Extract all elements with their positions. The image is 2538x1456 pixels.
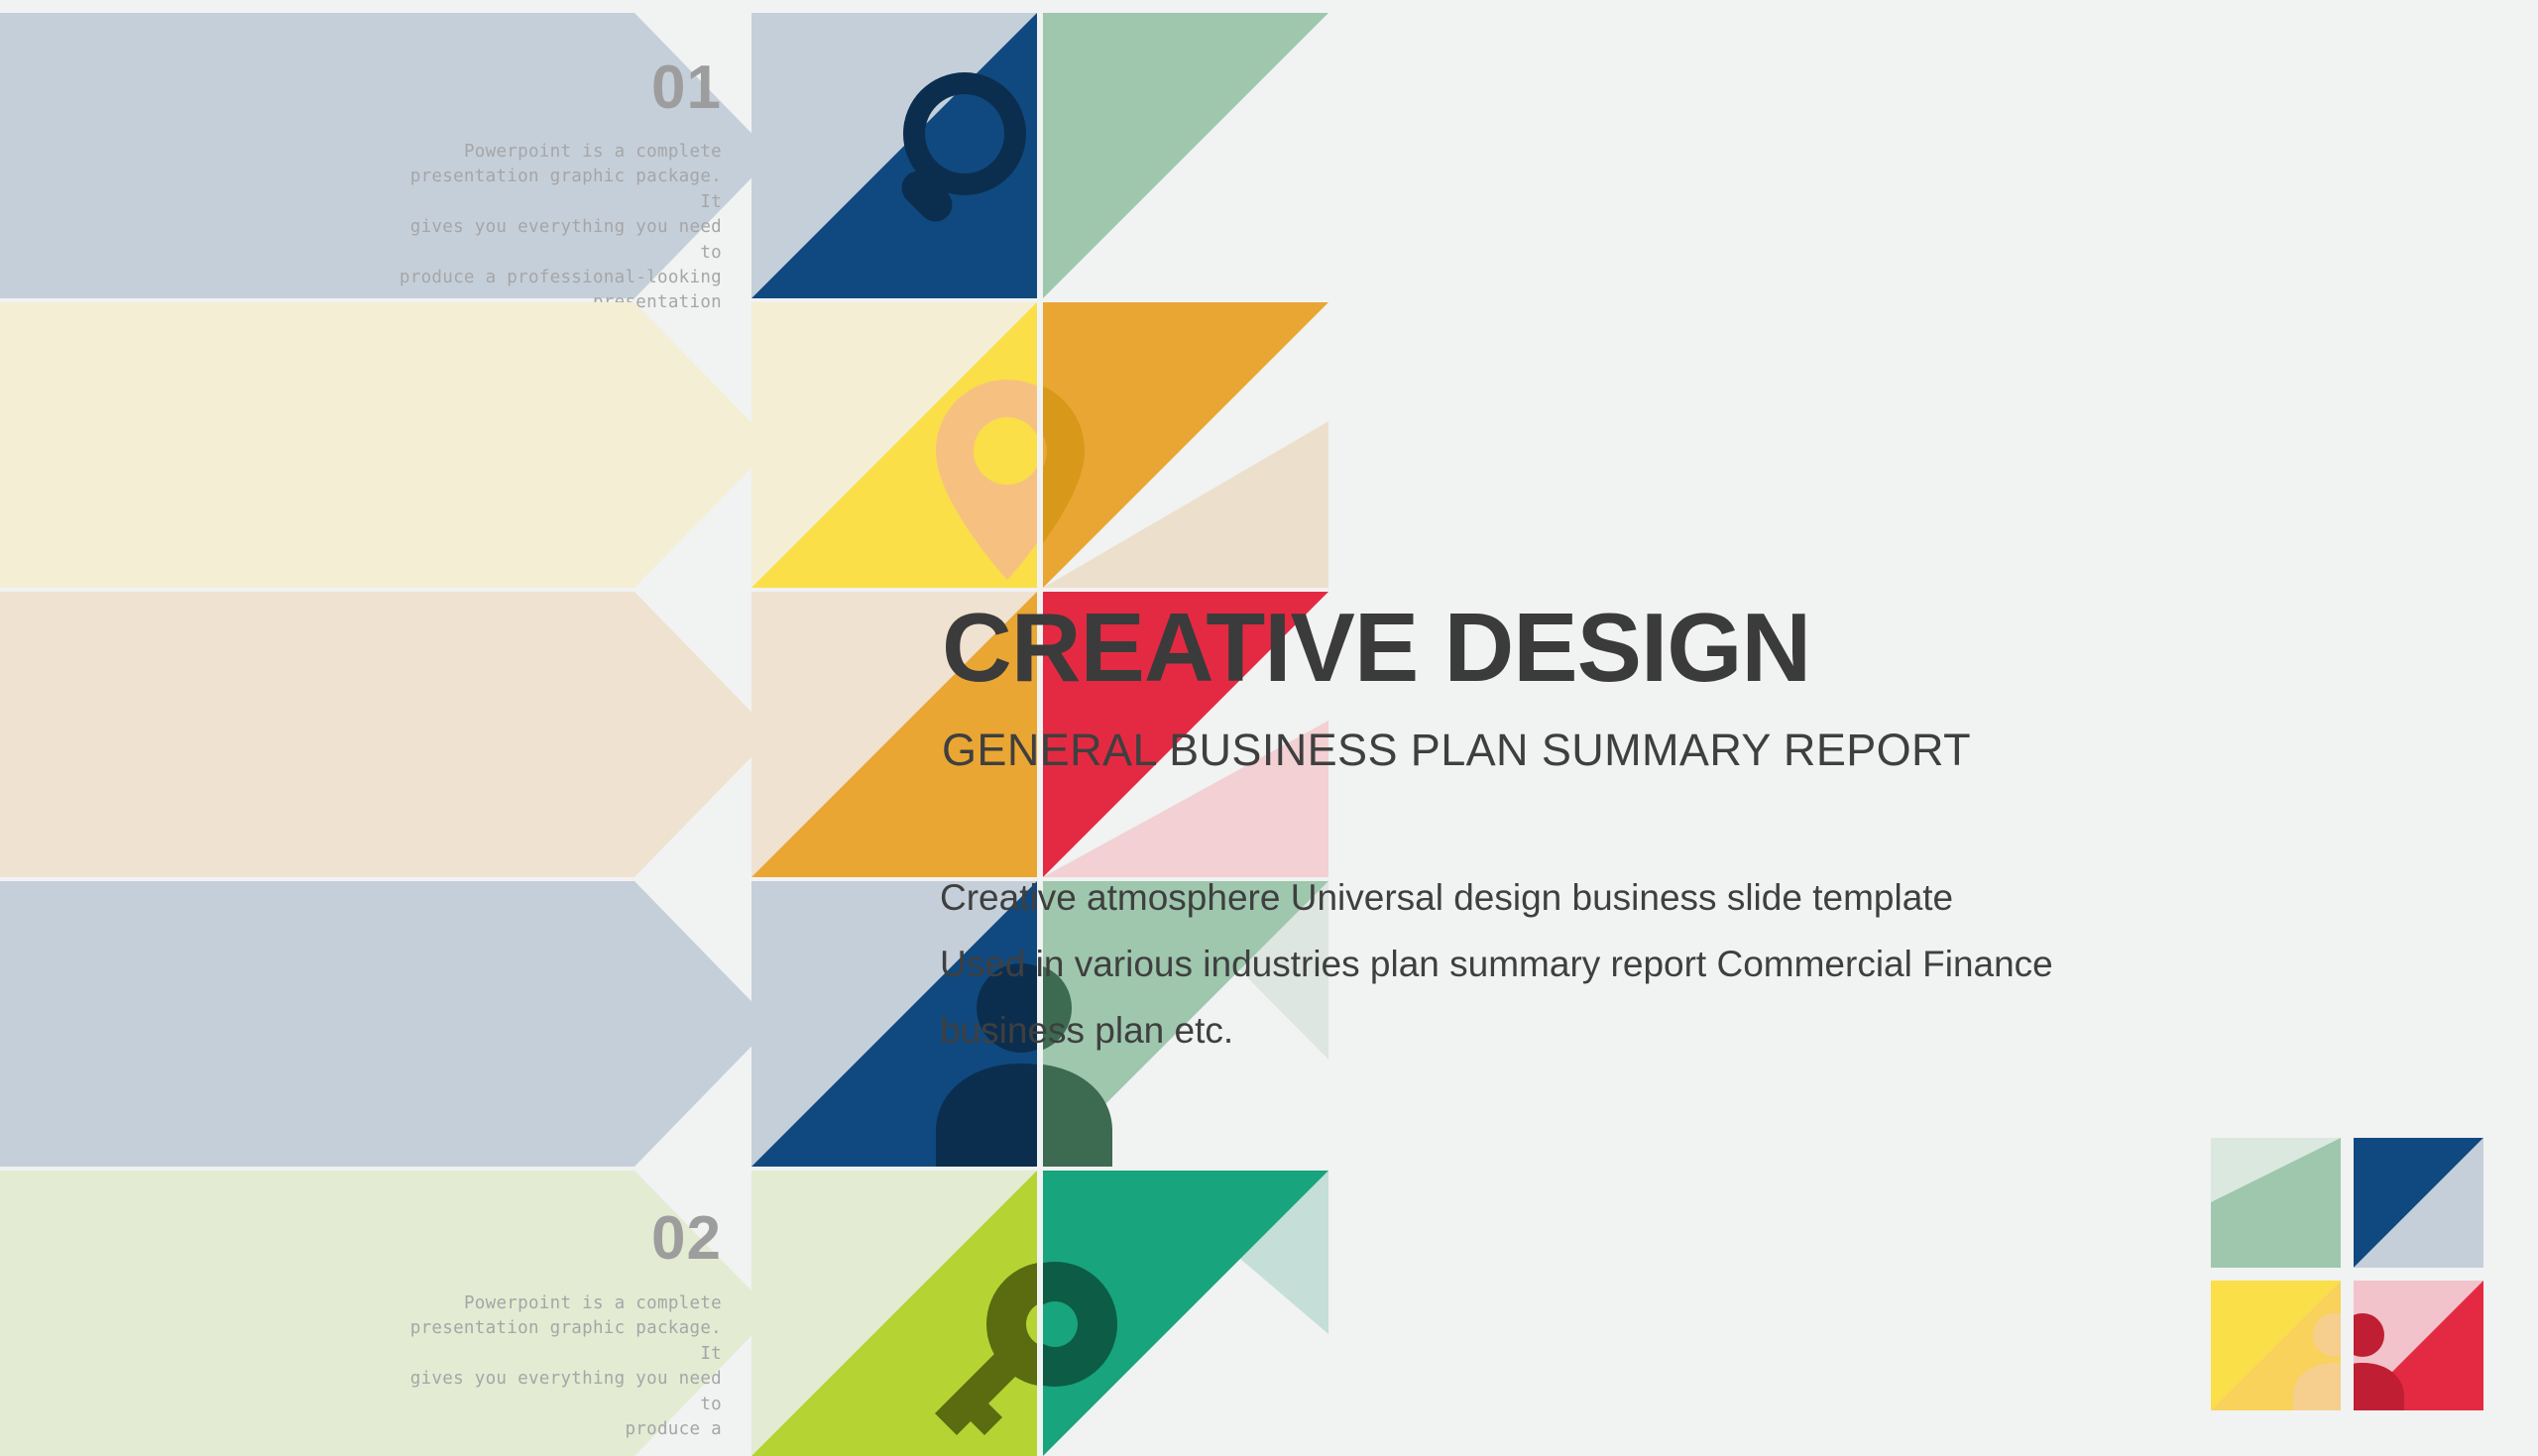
band-05-wing [1043, 1171, 1328, 1456]
body-line-2: Used in various industries plan summary … [940, 931, 2130, 997]
body-line-1: Creative atmosphere Universal design bus… [940, 864, 2130, 931]
logo-person-icon-echo [2211, 1281, 2341, 1410]
logo-quadrant-br [2354, 1281, 2483, 1410]
slide-canvas: 01 Powerpoint is a complete presentation… [0, 0, 2538, 1427]
band-05: 02 Powerpoint is a complete presentation… [0, 1171, 1299, 1456]
band-05-icon-tile [751, 1171, 1037, 1456]
page-title: CREATIVE DESIGN [942, 599, 1810, 696]
page-subtitle: GENERAL BUSINESS PLAN SUMMARY REPORT [942, 728, 1971, 772]
band-02-wing [1043, 302, 1328, 588]
magnifier-icon [751, 13, 1037, 298]
band-02-bar [0, 302, 773, 588]
band-02 [0, 302, 1299, 588]
band-01-number: 01 [651, 57, 722, 119]
band-04-bar [0, 881, 773, 1167]
band-02-icon-tile [751, 302, 1037, 588]
band-05-number: 02 [651, 1208, 722, 1270]
map-pin-icon [1043, 302, 1328, 588]
logo-quadrant-bl [2211, 1281, 2341, 1410]
band-01: 01 Powerpoint is a complete presentation… [0, 13, 1299, 298]
band-01-wing [1043, 13, 1328, 298]
key-icon [1043, 1171, 1328, 1456]
logo-person-icon [2354, 1281, 2483, 1410]
band-03-bar [0, 592, 773, 877]
logo-quadrant-tl [2211, 1138, 2341, 1268]
key-icon-echo [751, 1171, 1037, 1456]
pinwheel-logo [2211, 1138, 2483, 1410]
band-05-caption: Powerpoint is a complete presentation gr… [395, 1291, 722, 1442]
body-paragraph: Creative atmosphere Universal design bus… [940, 864, 2130, 1064]
magnifier-icon-echo [1043, 13, 1328, 298]
logo-quadrant-tr [2354, 1138, 2483, 1268]
band-01-icon-tile [751, 13, 1037, 298]
map-pin-icon-echo [751, 302, 1037, 588]
band-01-caption: Powerpoint is a complete presentation gr… [395, 140, 722, 316]
body-line-3: business plan etc. [940, 997, 2130, 1064]
